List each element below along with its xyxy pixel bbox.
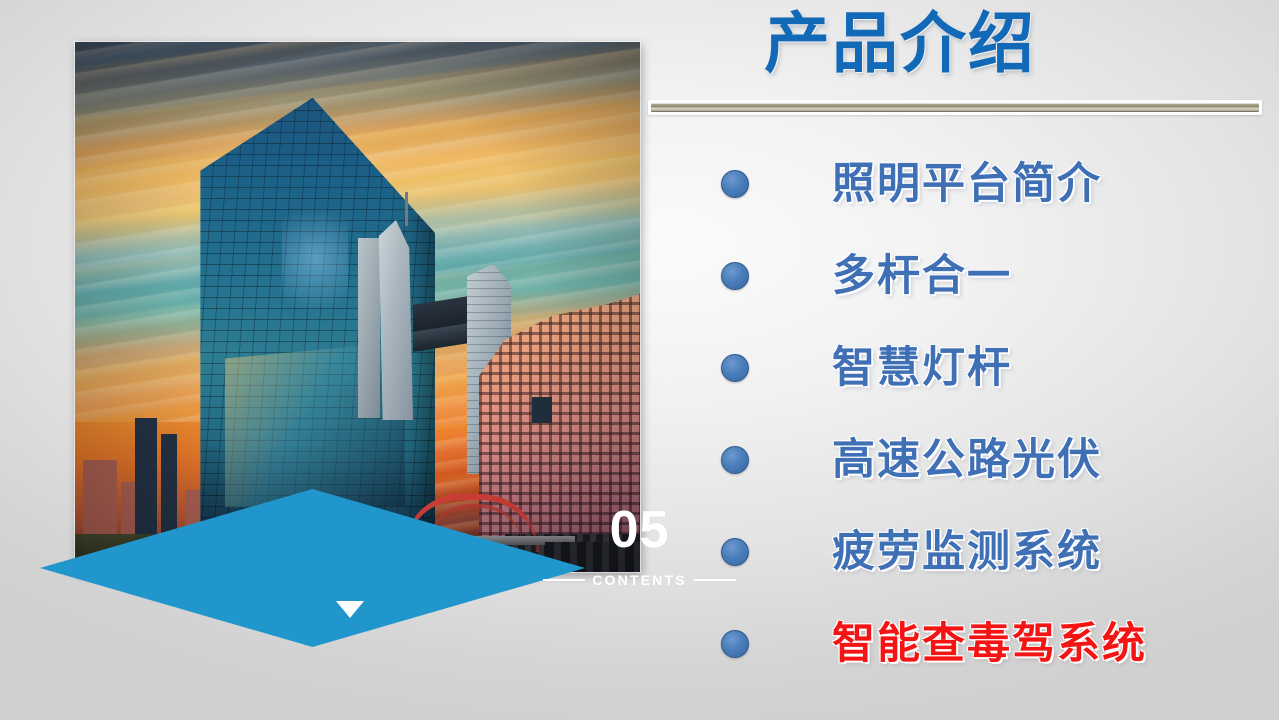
bullet-dot-icon — [721, 446, 749, 474]
bullet-label: 高速公路光伏 — [832, 439, 1102, 482]
bullet-dot-icon — [721, 262, 749, 290]
list-item[interactable]: 高速公路光伏 — [660, 414, 1260, 506]
bullet-dot-icon — [721, 354, 749, 382]
title-divider — [648, 100, 1262, 115]
bullet-label: 照明平台简介 — [832, 163, 1102, 206]
bullet-label: 智慧灯杆 — [832, 347, 1012, 390]
bullet-label: 多杆合一 — [832, 255, 1012, 298]
bullet-label: 疲劳监测系统 — [832, 531, 1102, 574]
list-item[interactable]: 多杆合一 — [660, 230, 1260, 322]
bullet-dot-icon — [721, 170, 749, 198]
list-item[interactable]: 智慧灯杆 — [660, 322, 1260, 414]
city-skyline-photo — [75, 42, 640, 572]
list-item[interactable]: 疲劳监测系统 — [660, 506, 1260, 598]
list-item[interactable]: 智能查毒驾系统 — [660, 598, 1260, 690]
list-item[interactable]: 照明平台简介 — [660, 138, 1260, 230]
page-title: 产品介绍 — [640, 5, 1160, 83]
bullet-dot-icon — [721, 630, 749, 658]
bullet-list: 照明平台简介 多杆合一 智慧灯杆 高速公路光伏 疲劳监测系统 智能查毒驾系统 — [660, 138, 1260, 690]
contents-rule-left — [543, 579, 585, 581]
title-divider-bar — [651, 103, 1259, 112]
bullet-label: 智能查毒驾系统 — [832, 623, 1147, 666]
bullet-dot-icon — [721, 538, 749, 566]
presentation-slide: 05 CONTENTS 产品介绍 照明平台简介 多杆合一 智慧灯杆 高速公路光伏 — [0, 0, 1279, 720]
photo-vignette — [75, 42, 640, 572]
triangle-down-icon — [336, 601, 364, 618]
